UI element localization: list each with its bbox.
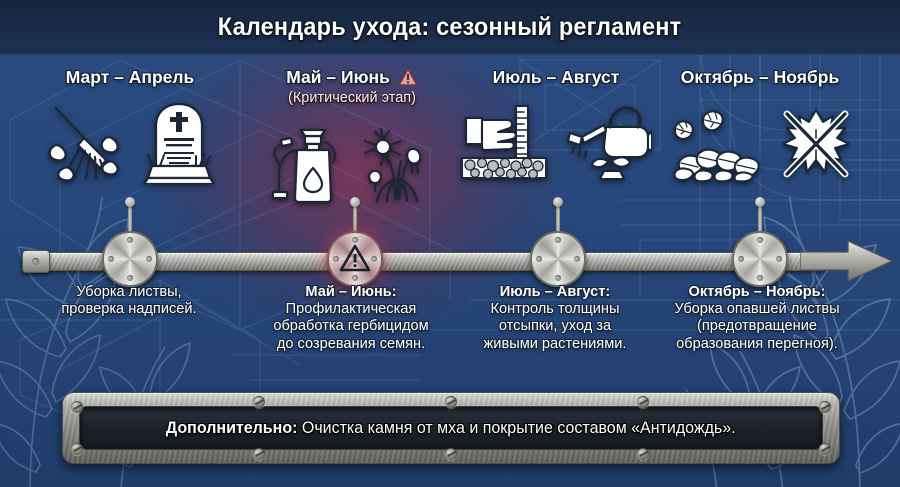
screw-icon: [71, 401, 83, 413]
watering-can-seedling-icon: [560, 101, 652, 183]
season-columns: Март – Апрель: [0, 54, 900, 254]
node-rivet: [776, 256, 782, 262]
caption-line: Июль – Август:: [452, 284, 658, 301]
screw-icon: [819, 443, 831, 455]
node-stem: [353, 205, 357, 233]
screw-icon: [253, 396, 265, 408]
node-rivet: [555, 237, 561, 243]
column-subheading: (Критический этап): [252, 90, 452, 106]
node-rivet: [127, 237, 133, 243]
column-heading: Март – Апрель: [30, 68, 230, 86]
footer-plate: Дополнительно: Очистка камня от мха и по…: [62, 392, 840, 464]
timeline-node-may-june-critical[interactable]: [327, 231, 383, 287]
node-rivet: [757, 237, 763, 243]
footer-inner-panel: Дополнительно: Очистка камня от мха и по…: [79, 406, 823, 450]
timeline-node-july-august[interactable]: [530, 231, 586, 287]
gravestone-icon: [142, 100, 216, 184]
title-bar: Календарь ухода: сезонный регламент: [0, 0, 900, 55]
season-column-july-august[interactable]: Июль – Август: [456, 54, 656, 190]
page-title: Календарь ухода: сезонный регламент: [218, 13, 682, 42]
screw-icon: [445, 396, 457, 408]
caption-line: до созревания семян.: [248, 336, 454, 353]
node-rivet: [574, 256, 580, 262]
caption-line: Контроль толщины: [452, 301, 658, 318]
node-rivet: [108, 256, 114, 262]
infographic-canvas: Календарь ухода: сезонный регламент Март…: [0, 0, 900, 487]
caption-line: живыми растениями.: [452, 336, 658, 353]
screw-icon: [819, 401, 831, 413]
node-rivet: [352, 237, 358, 243]
timeline-node-october-november[interactable]: [732, 231, 788, 287]
caption-october-november: Октябрь – Ноябрь: Уборка опавшей листвы …: [654, 284, 860, 353]
no-leaf-icon: [779, 102, 853, 182]
season-column-may-june[interactable]: Май – Июнь (Критический этап): [252, 54, 452, 210]
timeline-captions: Уборка листвы, проверка надписей. Май – …: [0, 284, 900, 370]
screw-icon: [253, 448, 265, 460]
node-rivet: [555, 275, 561, 281]
season-column-march-april[interactable]: Март – Апрель: [30, 54, 230, 190]
screw-icon: [637, 448, 649, 460]
caption-line: (предотвращение: [654, 318, 860, 335]
screw-icon: [71, 443, 83, 455]
caption-line: проверка надписей.: [26, 301, 232, 318]
caption-line: Профилактическая: [248, 301, 454, 318]
node-rivet: [127, 275, 133, 281]
column-heading: Октябрь – Ноябрь: [660, 68, 860, 86]
screw-icon: [637, 396, 649, 408]
sprayer-icon: [267, 120, 345, 204]
footer-body: Очистка камня от мха и покрытие составом…: [298, 419, 736, 437]
column-icons: [252, 114, 452, 210]
timeline-start-cap: [22, 250, 50, 273]
node-rivet: [757, 275, 763, 281]
season-column-october-november[interactable]: Октябрь – Ноябрь: [660, 54, 860, 190]
column-icons: [456, 94, 656, 190]
caption-line: Октябрь – Ноябрь:: [654, 284, 860, 301]
node-rivet: [146, 256, 152, 262]
screw-icon: [445, 448, 457, 460]
node-stem: [758, 205, 762, 233]
hand-ruler-gravel-icon: [460, 102, 550, 182]
caption-may-june: Май – Июнь: Профилактическая обработка г…: [248, 284, 454, 353]
node-stem: [128, 205, 132, 233]
caption-line: обработка гербицидом: [248, 318, 454, 335]
caption-line: Уборка листвы,: [26, 284, 232, 301]
column-icons: [30, 94, 230, 190]
caption-line: отсыпки, уход за: [452, 318, 658, 335]
caption-line: Май – Июнь:: [248, 284, 454, 301]
weed-icon: [355, 121, 437, 203]
column-icons: [660, 94, 860, 190]
caption-march-april: Уборка листвы, проверка надписей.: [26, 284, 232, 318]
timeline: [0, 236, 900, 284]
caption-july-august: Июль – Август: Контроль толщины отсыпки,…: [452, 284, 658, 353]
rake-icon: [44, 102, 132, 182]
column-heading-label: Май – Июнь: [286, 67, 390, 87]
warning-triangle-icon: [339, 244, 371, 277]
warning-triangle-icon: [398, 68, 418, 89]
footer-label: Дополнительно:: [166, 419, 298, 437]
node-rivet: [371, 256, 377, 262]
caption-line: Уборка опавшей листвы: [654, 301, 860, 318]
node-stem: [556, 205, 560, 233]
timeline-node-march-april[interactable]: [102, 231, 158, 287]
leaf-pile-icon: [667, 101, 769, 183]
column-heading: Июль – Август: [456, 68, 656, 86]
timeline-arrow-icon: [800, 238, 896, 284]
caption-line: образования перегноя).: [654, 336, 860, 353]
node-rivet: [738, 256, 744, 262]
footer-text: Дополнительно: Очистка камня от мха и по…: [166, 419, 736, 438]
column-heading: Май – Июнь: [252, 68, 452, 89]
node-rivet: [536, 256, 542, 262]
